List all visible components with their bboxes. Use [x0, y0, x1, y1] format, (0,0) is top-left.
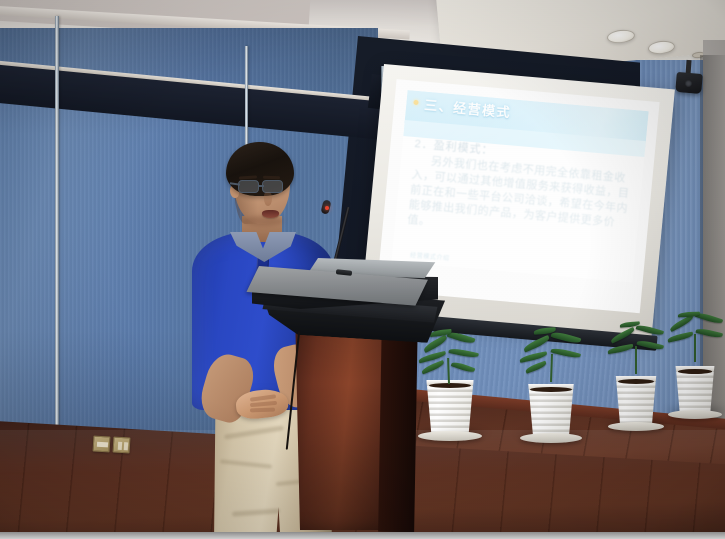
pot-soil	[429, 383, 472, 388]
pot-saucer	[668, 410, 722, 419]
podium-side-panel	[378, 318, 418, 533]
slide-body: 2．盈利模式： 另外我们也在考虑不用完全依靠租金收入，可以通过其他增值服务来获得…	[407, 137, 635, 247]
plant-frond	[636, 339, 664, 351]
glasses-lens	[238, 180, 259, 193]
pot-saucer	[418, 431, 482, 441]
plant-frond	[695, 327, 723, 339]
pot-soil	[530, 387, 571, 392]
plant-stem	[550, 354, 553, 382]
ceiling-camera-icon	[675, 72, 703, 94]
presentation-slide: 三、经营模式 2．盈利模式： 另外我们也在考虑不用完全依靠租金收入，可以通过其他…	[391, 90, 648, 282]
chin-shadow	[242, 216, 284, 226]
eyebrow	[263, 176, 280, 180]
plant-frond	[451, 360, 476, 374]
plant-frond	[551, 330, 582, 345]
wall-divider-strip	[55, 16, 59, 471]
image-bottom-border	[0, 532, 725, 539]
plant-frond	[636, 323, 665, 336]
plant-stem	[447, 358, 450, 384]
glasses-bridge	[258, 185, 264, 187]
presenter-hair	[226, 142, 294, 196]
pot-saucer	[608, 422, 664, 431]
presenter-nose	[264, 192, 272, 206]
list-item	[418, 330, 480, 436]
pot-soil	[618, 379, 654, 384]
list-item	[608, 322, 666, 426]
plant-stem	[635, 346, 637, 374]
plant-frond	[525, 361, 548, 374]
pot-saucer	[520, 433, 582, 443]
list-item	[668, 312, 725, 414]
list-item	[520, 328, 582, 438]
pot-soil	[678, 369, 713, 374]
plant-frond	[522, 335, 550, 353]
plant-frond	[667, 331, 694, 342]
wall-outlet-icon	[113, 437, 131, 454]
plant-frond	[448, 347, 479, 359]
wall-outlet-icon	[93, 436, 111, 453]
plant-frond	[610, 327, 636, 344]
plant-frond	[607, 344, 634, 354]
plant-frond	[550, 347, 581, 360]
plant-stem	[694, 334, 696, 362]
conference-room-photo: 三、经营模式 2．盈利模式： 另外我们也在考虑不用完全依靠租金收入，可以通过其他…	[0, 0, 725, 539]
